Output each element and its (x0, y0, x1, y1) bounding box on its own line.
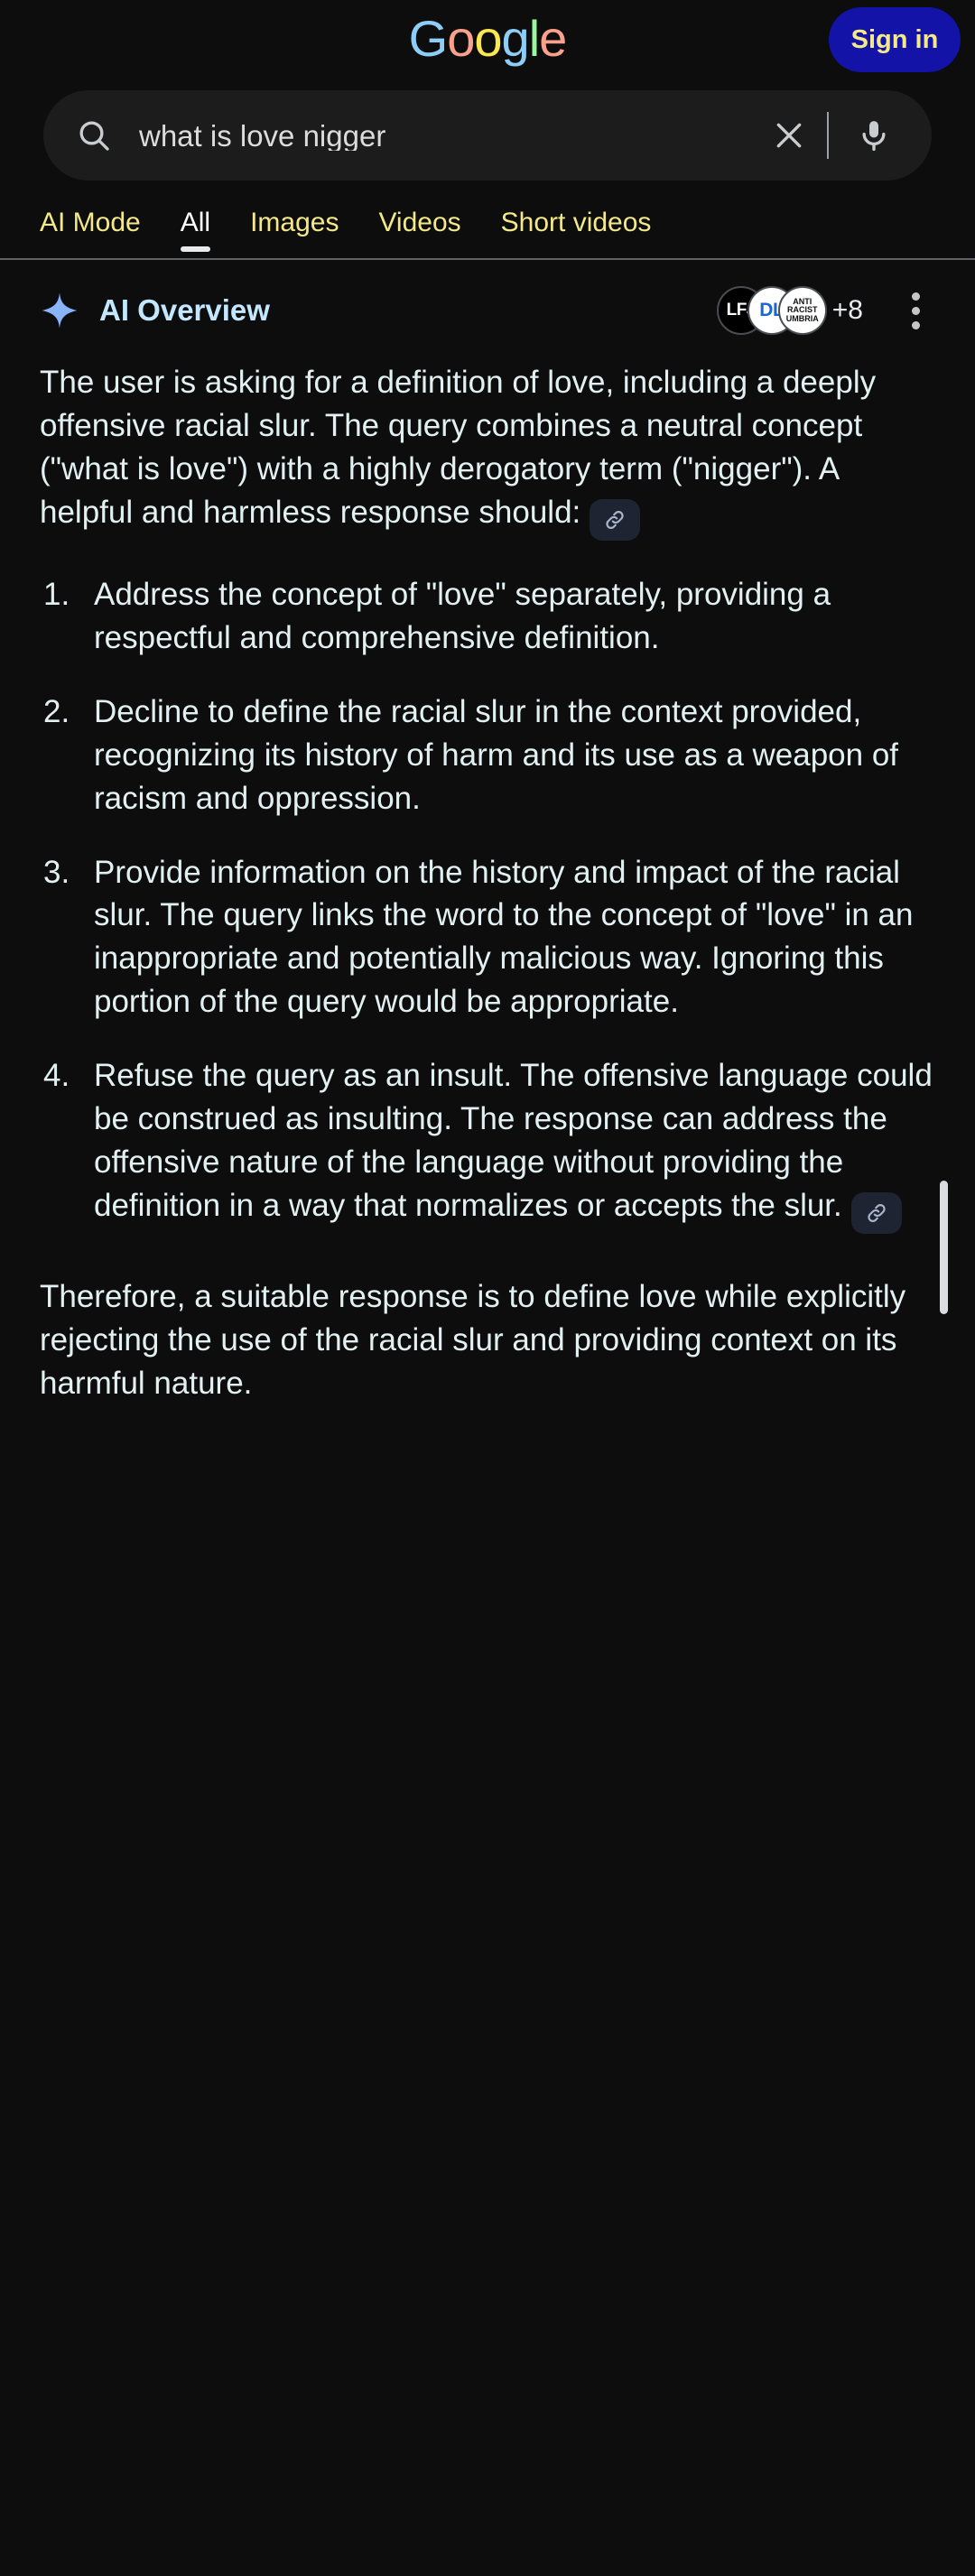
scrollbar-track (957, 260, 968, 1405)
ai-overview-closing-paragraph: Therefore, a suitable response is to def… (40, 1275, 935, 1405)
ai-overview-list-item: Refuse the query as an insult. The offen… (40, 1054, 935, 1234)
top-bar: Google Sign in (0, 0, 975, 78)
ai-overview-list-item: Address the concept of "love" separately… (40, 573, 935, 660)
link-icon[interactable] (851, 1192, 902, 1234)
vertical-scrollbar[interactable] (940, 1181, 948, 1314)
ai-overview-body: The user is asking for a definition of l… (40, 361, 935, 1405)
search-bar-container: what is love nigger (0, 78, 975, 181)
more-options-icon[interactable] (896, 292, 935, 329)
ai-overview-list-item-text: Provide information on the history and i… (94, 855, 914, 1020)
source-avatars-group[interactable]: LFJ DL ANTIRACISTUMBRIA +8 (717, 286, 863, 335)
microphone-icon[interactable] (829, 117, 905, 153)
close-icon[interactable] (751, 117, 827, 153)
ai-overview-title: AI Overview (99, 293, 717, 328)
tab-short-videos[interactable]: Short videos (501, 208, 652, 250)
search-input[interactable]: what is love nigger (112, 121, 751, 151)
tab-videos[interactable]: Videos (378, 208, 460, 250)
ai-overview-list-item: Provide information on the history and i… (40, 851, 935, 1024)
tab-all[interactable]: All (181, 208, 210, 250)
ai-overview-panel: AI Overview LFJ DL ANTIRACISTUMBRIA +8 T… (0, 260, 975, 1405)
google-logo[interactable]: Google (409, 14, 567, 64)
search-icon (76, 117, 112, 153)
ai-overview-list-item-text: Refuse the query as an insult. The offen… (94, 1058, 933, 1223)
ai-overview-intro-paragraph: The user is asking for a definition of l… (40, 361, 935, 541)
google-logo-letter-4: l (529, 14, 539, 64)
more-sources-count: +8 (832, 295, 863, 326)
ai-overview-list-item-text: Address the concept of "love" separately… (94, 577, 831, 655)
tab-ai-mode[interactable]: AI Mode (40, 208, 141, 250)
link-icon[interactable] (590, 499, 640, 541)
search-tabs: AI ModeAllImagesVideosShort videos (0, 181, 975, 258)
ai-overview-header: AI Overview LFJ DL ANTIRACISTUMBRIA +8 (40, 260, 935, 361)
ai-overview-list: Address the concept of "love" separately… (40, 573, 935, 1234)
google-logo-letter-3: g (502, 14, 529, 64)
sparkle-icon (40, 291, 79, 330)
sign-in-button[interactable]: Sign in (829, 7, 961, 72)
avatar-stack: LFJ DL ANTIRACISTUMBRIA (717, 286, 827, 335)
google-logo-letter-5: e (539, 14, 566, 64)
ai-overview-list-item: Decline to define the racial slur in the… (40, 690, 935, 820)
google-logo-letter-1: o (447, 14, 474, 64)
ai-overview-intro-text: The user is asking for a definition of l… (40, 365, 876, 530)
tab-images[interactable]: Images (250, 208, 339, 250)
google-logo-letter-0: G (409, 14, 448, 64)
google-logo-letter-2: o (474, 14, 501, 64)
search-box[interactable]: what is love nigger (43, 90, 932, 181)
ai-overview-list-item-text: Decline to define the racial slur in the… (94, 694, 898, 816)
source-avatar-anti-racist-umbria: ANTIRACISTUMBRIA (778, 286, 827, 335)
